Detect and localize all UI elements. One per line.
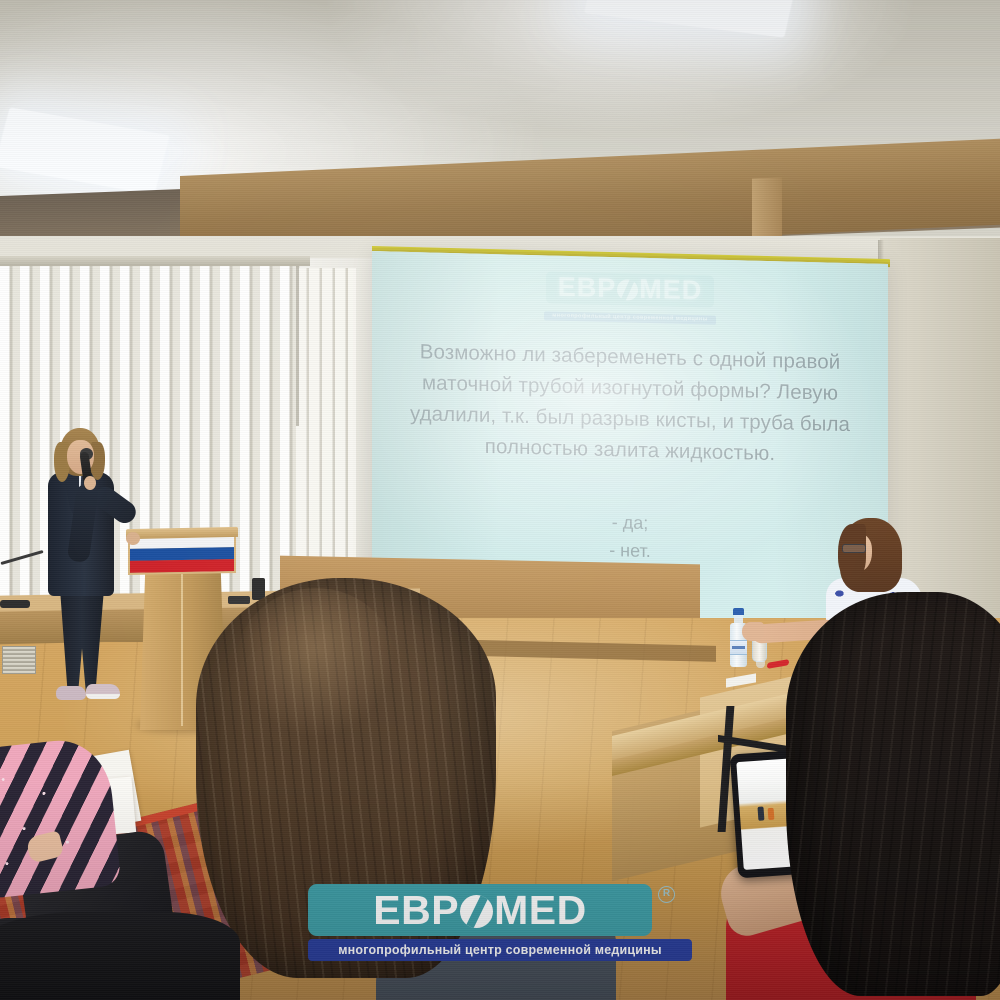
podium-center-edge [181, 574, 183, 726]
evromed-watermark-logo: ЕВРМЕD R многопрофильный центр современн… [308, 884, 692, 960]
speaker-shoe-sole [86, 694, 120, 699]
speaker-legs [58, 588, 106, 692]
watermark-tagline: многопрофильный центр современной медици… [308, 939, 692, 961]
right-audience-hair-strands [786, 592, 1000, 996]
flag-stripe-red [130, 559, 234, 573]
podium-front-panel [128, 533, 236, 575]
speaker-shoe-left [56, 686, 86, 700]
blinds-rail [0, 256, 310, 266]
registered-trademark-icon: R [658, 886, 675, 903]
foreground-chair-back [0, 912, 240, 1000]
blinds-cord [296, 266, 299, 426]
russian-flag-icon [130, 535, 234, 573]
audience-red-with-phone [690, 592, 1000, 1000]
watermark-circle-logo-icon [460, 895, 493, 928]
watermark-brand-band: ЕВРМЕD R [308, 884, 652, 936]
center-audience-hair-sheen [236, 588, 396, 738]
eyeglasses-icon [842, 544, 866, 553]
phone-screen-figure-secondary [768, 808, 775, 820]
watermark-brand-text: ЕВРМЕD [373, 890, 586, 931]
wall-vent-grille [2, 646, 36, 674]
microphone-stand-base [0, 600, 30, 608]
wooden-beam-post [752, 177, 782, 242]
phone-screen-figure [757, 806, 764, 820]
speaker-hand-on-mic [84, 476, 96, 490]
conference-photo-scene: ЕВРМЕD многопрофильный центр современной… [0, 0, 1000, 1000]
speaker-hand-on-podium [126, 532, 140, 545]
watermark-brand-right: МЕD [494, 890, 587, 931]
watermark-brand-left: ЕВР [373, 890, 459, 931]
speaker-with-microphone [34, 428, 144, 718]
